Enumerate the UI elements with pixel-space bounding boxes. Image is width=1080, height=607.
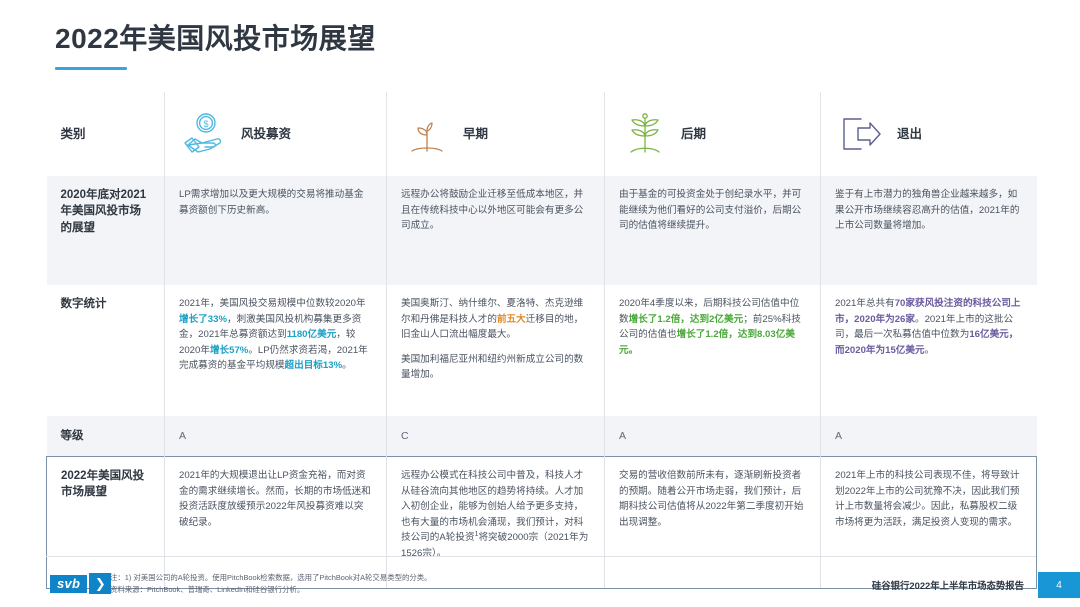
cell-outlook2022-early: 远程办公模式在科技公司中普及，科技人才从硅谷流向其他地区的趋势将持续。人才加入初… bbox=[387, 457, 605, 589]
cell-grade-late: A bbox=[605, 416, 821, 457]
title-block: 2022年美国风投市场展望 bbox=[55, 22, 376, 70]
title-underline-rule bbox=[55, 67, 127, 70]
row-label-grade: 等级 bbox=[61, 428, 151, 444]
grade-value: A bbox=[179, 430, 186, 442]
footnote-line-2: 资料来源：PitchBook、普瑞奇、LinkedIn和硅谷银行分析。 bbox=[110, 584, 670, 596]
cell-text: 2021年上市的科技公司表现不佳，将导致计划2022年上市的公司犹豫不决，因此我… bbox=[835, 468, 1022, 530]
page-number-badge: 4 bbox=[1038, 572, 1080, 598]
chevron-right-icon: ❯ bbox=[89, 573, 111, 594]
cell-text: 2021年的大规模退出让LP资金充裕，而对资金的需求继续增长。然而，长期的市场低… bbox=[179, 468, 372, 530]
row-label-outlook-2022: 2022年美国风投市场展望 bbox=[61, 468, 150, 501]
cell-text: 美国奥斯汀、纳什维尔、夏洛特、杰克逊维尔和丹佛是科技人才的前五大迁移目的地，旧金… bbox=[401, 296, 590, 343]
cell-text: 由于基金的可投资金处于创纪录水平，并可能继续为他们看好的公司支付溢价，后期公司的… bbox=[619, 187, 806, 234]
cell-grade-funding: A bbox=[165, 416, 387, 457]
column-label-category: 类别 bbox=[61, 124, 86, 144]
hand-coin-icon: $ bbox=[179, 108, 231, 160]
cell-outlook2022-late: 交易的营收倍数前所未有，逐渐刷新投资者的预期。随着公开市场走弱，我们预计，后期科… bbox=[605, 457, 821, 589]
cell-outlook2020-early: 远程办公将鼓励企业迁移至低成本地区，并且在传统科技中心以外地区可能会有更多公司成… bbox=[387, 176, 605, 285]
svg-text:$: $ bbox=[203, 119, 208, 129]
cell-text: 交易的营收倍数前所未有，逐渐刷新投资者的预期。随着公开市场走弱，我们预计，后期科… bbox=[619, 468, 806, 530]
column-label-funding: 风投募资 bbox=[241, 124, 291, 144]
cell-text: 远程办公模式在科技公司中普及，科技人才从硅谷流向其他地区的趋势将持续。人才加入初… bbox=[401, 468, 590, 561]
header-cell-late: 后期 bbox=[605, 92, 821, 176]
cell-text-secondary: 美国加利福尼亚州和纽约州新成立公司的数量增加。 bbox=[401, 352, 590, 383]
footer-right: 硅谷银行2022年上半年市场态势报告 4 bbox=[872, 572, 1080, 598]
header-cell-category: 类别 bbox=[47, 92, 165, 176]
cell-statistics-early: 美国奥斯汀、纳什维尔、夏洛特、杰克逊维尔和丹佛是科技人才的前五大迁移目的地，旧金… bbox=[387, 285, 605, 416]
table-row-grade: 等级 A C A A bbox=[47, 416, 1037, 457]
row-label-cell: 等级 bbox=[47, 416, 165, 457]
cell-outlook2020-exit: 鉴于有上市潜力的独角兽企业越来越多，如果公开市场继续容忍高升的估值，2021年的… bbox=[821, 176, 1037, 285]
footer-divider bbox=[46, 556, 1036, 557]
cell-outlook2020-late: 由于基金的可投资金处于创纪录水平，并可能继续为他们看好的公司支付溢价，后期公司的… bbox=[605, 176, 821, 285]
cell-text: 鉴于有上市潜力的独角兽企业越来越多，如果公开市场继续容忍高升的估值，2021年的… bbox=[835, 187, 1023, 234]
column-label-late: 后期 bbox=[681, 124, 706, 144]
exit-arrow-icon bbox=[835, 108, 887, 160]
plant-icon bbox=[619, 108, 671, 160]
header-cell-exit: 退出 bbox=[821, 92, 1037, 176]
table-header-row: 类别 $ bbox=[47, 92, 1037, 176]
cell-statistics-late: 2020年4季度以来，后期科技公司估值中位数增长了1.2倍，达到2亿美元；前25… bbox=[605, 285, 821, 416]
grade-value: C bbox=[401, 430, 409, 442]
cell-outlook2020-funding: LP需求增加以及更大规模的交易将推动基金募资额创下历史新高。 bbox=[165, 176, 387, 285]
row-label-statistics: 数字统计 bbox=[61, 296, 151, 312]
cell-statistics-funding: 2021年，美国风投交易规模中位数较2020年增长了33%，刺激美国风投机构募集… bbox=[165, 285, 387, 416]
cell-statistics-exit: 2021年总共有70家获风投注资的科技公司上市，2020年为26家。2021年上… bbox=[821, 285, 1037, 416]
sprout-icon bbox=[401, 108, 453, 160]
row-label-outlook-2020: 2020年底对2021年美国风投市场的展望 bbox=[61, 187, 151, 236]
grade-value: A bbox=[835, 430, 842, 442]
column-label-early: 早期 bbox=[463, 124, 488, 144]
report-title: 硅谷银行2022年上半年市场态势报告 bbox=[872, 578, 1024, 592]
row-label-cell: 2020年底对2021年美国风投市场的展望 bbox=[47, 176, 165, 285]
header-cell-funding: $ 风投募资 bbox=[165, 92, 387, 176]
cell-outlook2022-funding: 2021年的大规模退出让LP资金充裕，而对资金的需求继续增长。然而，长期的市场低… bbox=[165, 457, 387, 589]
cell-grade-early: C bbox=[387, 416, 605, 457]
footnote-line-1: 注：1) 对美国公司的A轮投资。使用PitchBook检索数据，选用了Pitch… bbox=[110, 572, 670, 584]
row-label-cell: 数字统计 bbox=[47, 285, 165, 416]
table-row-statistics: 数字统计 2021年，美国风投交易规模中位数较2020年增长了33%，刺激美国风… bbox=[47, 285, 1037, 416]
slide-page: 2022年美国风投市场展望 类别 bbox=[0, 0, 1080, 607]
column-label-exit: 退出 bbox=[897, 124, 922, 144]
table-row-outlook-2020: 2020年底对2021年美国风投市场的展望 LP需求增加以及更大规模的交易将推动… bbox=[47, 176, 1037, 285]
header-cell-early: 早期 bbox=[387, 92, 605, 176]
table-row-outlook-2022: 2022年美国风投市场展望 2021年的大规模退出让LP资金充裕，而对资金的需求… bbox=[47, 457, 1037, 589]
cell-text: 2021年总共有70家获风投注资的科技公司上市，2020年为26家。2021年上… bbox=[835, 296, 1023, 358]
footnote: 注：1) 对美国公司的A轮投资。使用PitchBook检索数据，选用了Pitch… bbox=[110, 572, 670, 596]
cell-outlook2022-exit: 2021年上市的科技公司表现不佳，将导致计划2022年上市的公司犹豫不决，因此我… bbox=[821, 457, 1037, 589]
cell-text: 2021年，美国风投交易规模中位数较2020年增长了33%，刺激美国风投机构募集… bbox=[179, 296, 372, 374]
row-label-cell: 2022年美国风投市场展望 bbox=[47, 457, 165, 589]
cell-text: LP需求增加以及更大规模的交易将推动基金募资额创下历史新高。 bbox=[179, 187, 372, 218]
page-title: 2022年美国风投市场展望 bbox=[55, 22, 376, 56]
svb-logo: svb ❯ bbox=[50, 572, 111, 595]
outlook-table: 类别 $ bbox=[46, 92, 1037, 589]
cell-grade-exit: A bbox=[821, 416, 1037, 457]
svb-logo-text: svb bbox=[50, 575, 87, 593]
cell-text: 2020年4季度以来，后期科技公司估值中位数增长了1.2倍，达到2亿美元；前25… bbox=[619, 296, 806, 358]
cell-text: 远程办公将鼓励企业迁移至低成本地区，并且在传统科技中心以外地区可能会有更多公司成… bbox=[401, 187, 590, 234]
grade-value: A bbox=[619, 430, 626, 442]
